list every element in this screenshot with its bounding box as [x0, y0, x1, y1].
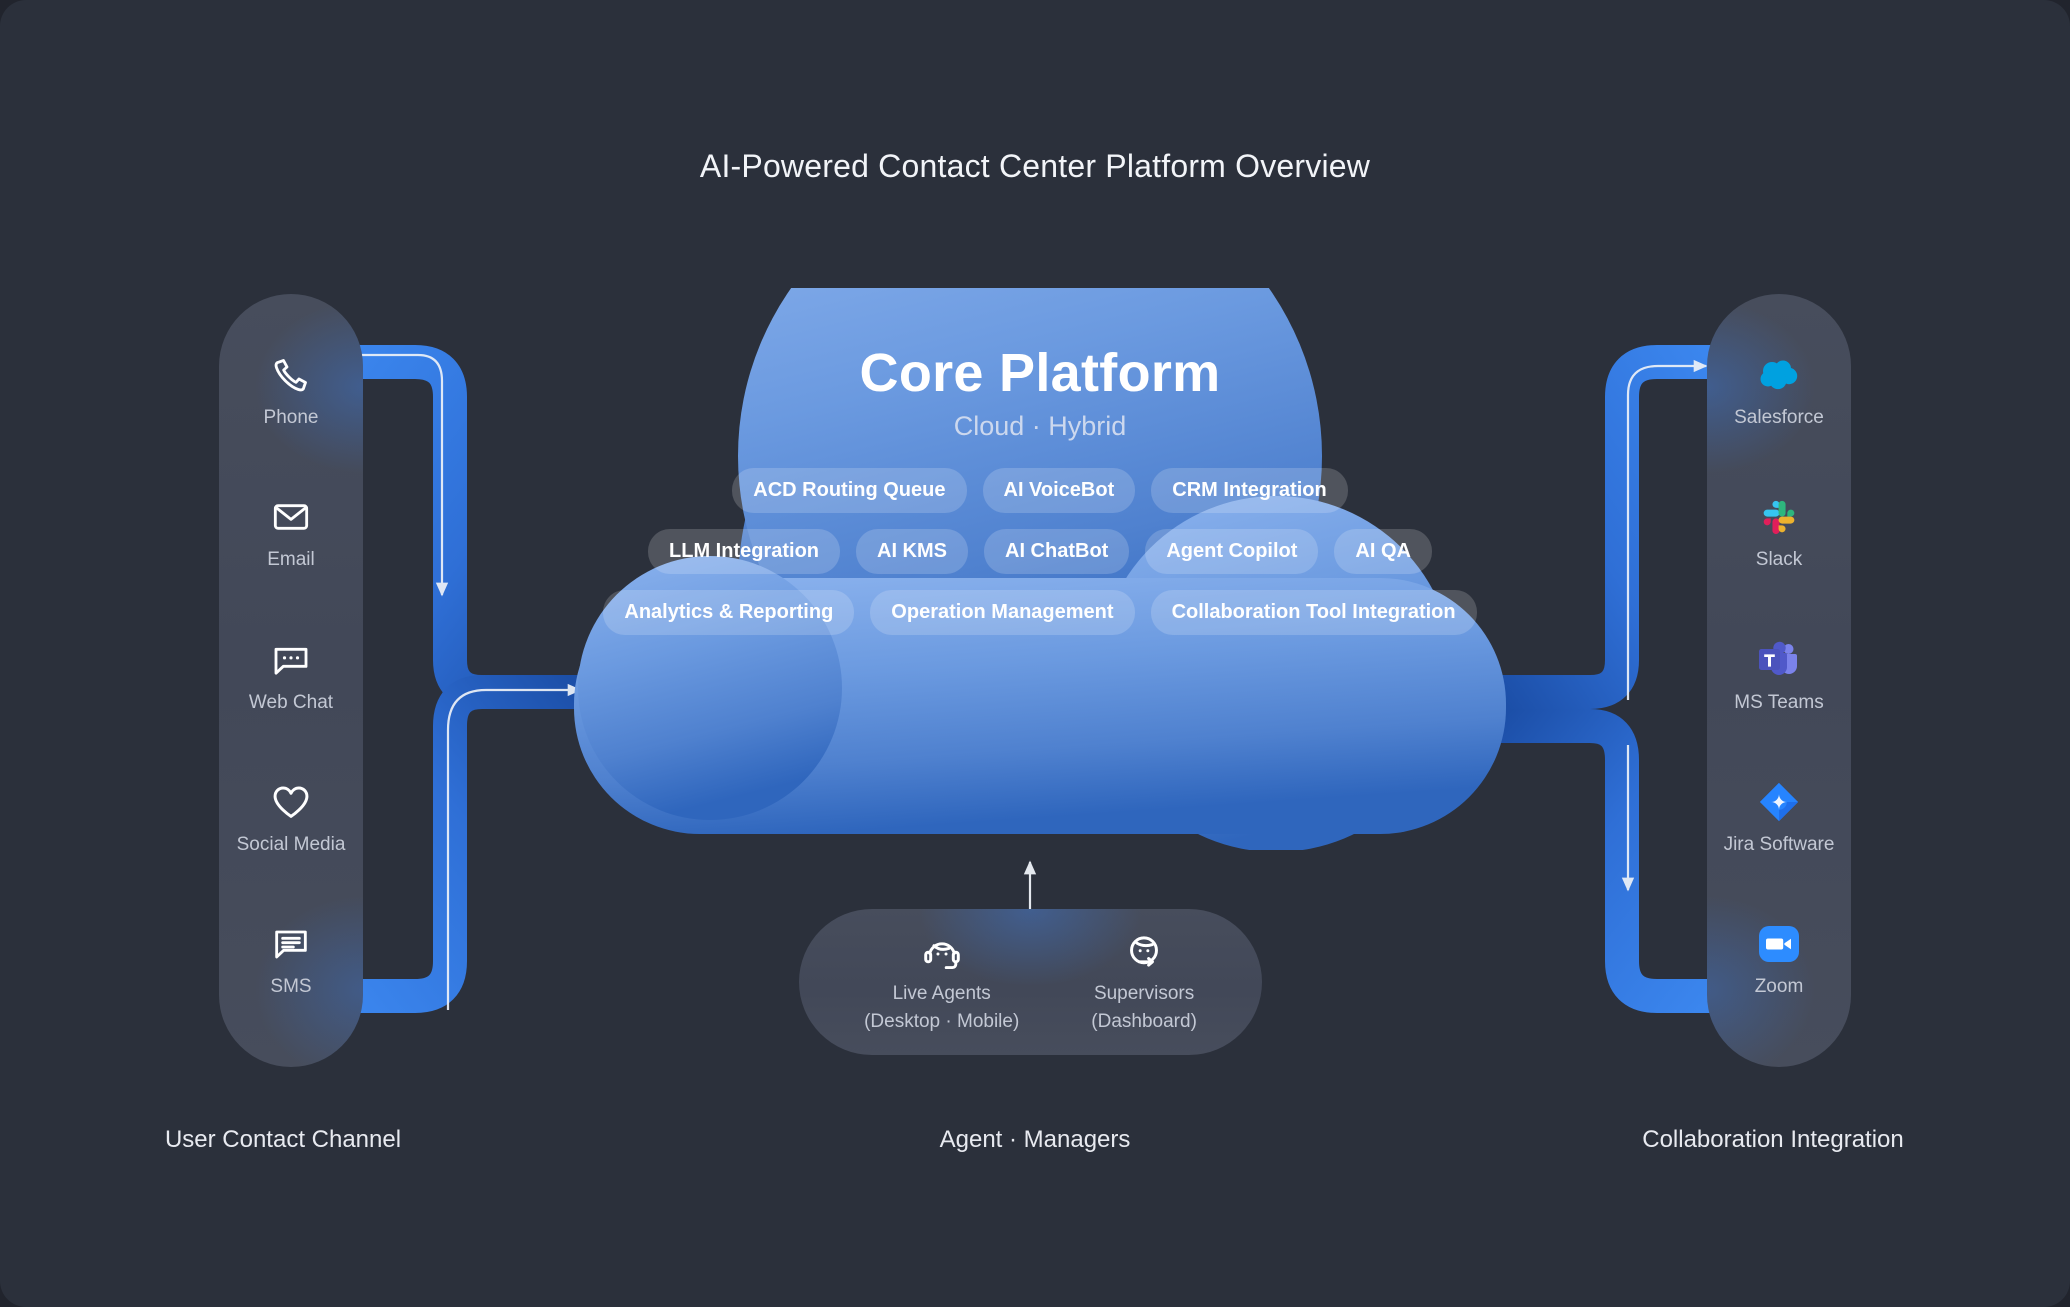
salesforce-icon [1756, 352, 1802, 398]
caption-user-contact-channel: User Contact Channel [0, 1126, 566, 1154]
capability-pill[interactable]: ACD Routing Queue [732, 468, 966, 513]
cloud-subtitle: Cloud · Hybrid [560, 411, 1520, 442]
integration-item-ms-teams[interactable]: MS Teams [1707, 637, 1851, 714]
collaboration-integration-panel: Salesforce Slack [1707, 294, 1851, 1067]
ms-teams-icon [1756, 637, 1802, 683]
capability-pill[interactable]: AI VoiceBot [983, 468, 1136, 513]
agent-name: Supervisors [1094, 983, 1194, 1005]
capability-pill[interactable]: AI QA [1334, 529, 1432, 574]
slack-icon [1756, 494, 1802, 540]
envelope-icon [268, 494, 314, 540]
capability-pill[interactable]: Collaboration Tool Integration [1151, 590, 1477, 635]
agent-detail: (Dashboard) [1091, 1011, 1197, 1033]
supervisor-arrow-icon [1120, 929, 1168, 977]
phone-icon [268, 352, 314, 398]
headset-agent-icon [918, 929, 966, 977]
channel-label: SMS [270, 976, 311, 998]
channel-item-email[interactable]: Email [219, 494, 363, 571]
flow-right-upper [1628, 366, 1706, 700]
agent-managers-panel: Live Agents (Desktop · Mobile) Superviso… [799, 909, 1262, 1055]
heart-icon [268, 779, 314, 825]
capability-pill-area: ACD Routing Queue AI VoiceBot CRM Integr… [560, 468, 1520, 635]
agent-detail: (Desktop · Mobile) [864, 1011, 1019, 1033]
integration-item-salesforce[interactable]: Salesforce [1707, 352, 1851, 429]
chat-dots-icon [268, 637, 314, 683]
capability-row: LLM Integration AI KMS AI ChatBot Agent … [648, 529, 1432, 574]
caption-agent-managers: Agent · Managers [752, 1126, 1318, 1154]
capability-pill[interactable]: Analytics & Reporting [603, 590, 854, 635]
channel-label: Social Media [237, 834, 346, 856]
integration-label: Slack [1756, 549, 1802, 571]
diagram-canvas: AI-Powered Contact Center Platform Overv… [0, 0, 2070, 1307]
channel-item-social-media[interactable]: Social Media [219, 779, 363, 856]
jira-icon [1756, 779, 1802, 825]
channel-label: Phone [264, 407, 319, 429]
channel-item-web-chat[interactable]: Web Chat [219, 637, 363, 714]
user-contact-channel-panel: Phone Email Web Chat [219, 294, 363, 1067]
caption-collaboration-integration: Collaboration Integration [1490, 1126, 2056, 1154]
integration-label: Zoom [1755, 976, 1804, 998]
zoom-icon [1756, 921, 1802, 967]
wire-left-upper [340, 362, 580, 692]
capability-pill[interactable]: Agent Copilot [1145, 529, 1318, 574]
integration-label: Salesforce [1734, 407, 1824, 429]
integration-label: MS Teams [1734, 692, 1823, 714]
cloud-title: Core Platform [560, 342, 1520, 404]
message-lines-icon [268, 921, 314, 967]
channel-item-sms[interactable]: SMS [219, 921, 363, 998]
wire-right-upper [1498, 362, 1712, 692]
channel-label: Email [267, 549, 315, 571]
wire-right-lower [1498, 726, 1712, 996]
wire-left-lower [340, 692, 580, 996]
core-platform-cloud[interactable]: Core Platform Cloud · Hybrid ACD Routing… [560, 288, 1520, 850]
channel-item-phone[interactable]: Phone [219, 352, 363, 429]
capability-pill[interactable]: AI ChatBot [984, 529, 1129, 574]
page-title: AI-Powered Contact Center Platform Overv… [0, 148, 2070, 185]
integration-item-slack[interactable]: Slack [1707, 494, 1851, 571]
channel-label: Web Chat [249, 692, 333, 714]
capability-pill[interactable]: Operation Management [870, 590, 1134, 635]
agent-item-live-agents[interactable]: Live Agents (Desktop · Mobile) [864, 929, 1019, 1033]
integration-item-jira[interactable]: Jira Software [1707, 779, 1851, 856]
capability-row: Analytics & Reporting Operation Manageme… [603, 590, 1476, 635]
capability-row: ACD Routing Queue AI VoiceBot CRM Integr… [732, 468, 1347, 513]
agent-item-supervisors[interactable]: Supervisors (Dashboard) [1091, 929, 1197, 1033]
integration-label: Jira Software [1724, 834, 1835, 856]
capability-pill[interactable]: AI KMS [856, 529, 968, 574]
capability-pill[interactable]: CRM Integration [1151, 468, 1347, 513]
cloud-content: Core Platform Cloud · Hybrid ACD Routing… [560, 288, 1520, 850]
integration-item-zoom[interactable]: Zoom [1707, 921, 1851, 998]
capability-pill[interactable]: LLM Integration [648, 529, 840, 574]
agent-name: Live Agents [893, 983, 991, 1005]
